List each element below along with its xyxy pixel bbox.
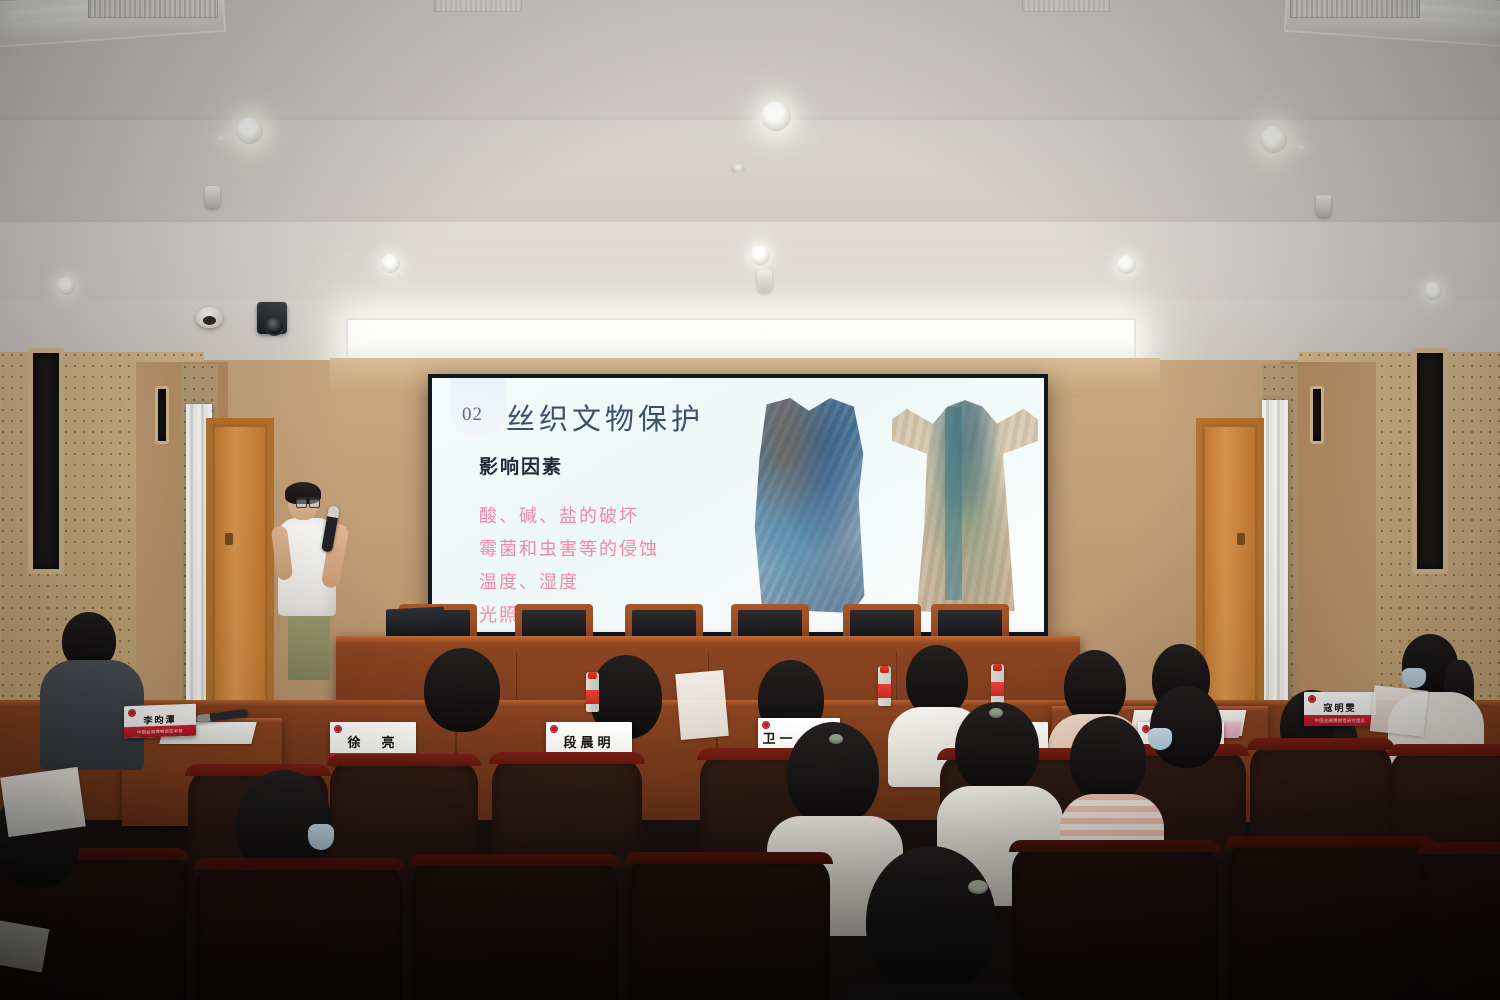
desk-seam [516, 652, 517, 700]
placard-org: 中国丝绸博物馆研究馆员 [1304, 715, 1376, 726]
bottle-cap [993, 664, 1002, 671]
university-logo-icon [334, 725, 342, 733]
desk-seam [896, 652, 897, 700]
desk-top-edge [336, 636, 1080, 643]
chair-cushion [738, 610, 802, 638]
blue-silk-robe-image [750, 398, 868, 613]
slide-number: 02 [462, 404, 483, 426]
university-logo-icon [762, 721, 770, 729]
placard-name: 徐 亮 [330, 722, 416, 753]
glasses-icon [296, 497, 320, 504]
handout-paper-left[interactable] [0, 767, 86, 837]
ceiling-downlight [381, 254, 400, 273]
seat-trim [1225, 836, 1437, 848]
handout-paper-left-2[interactable] [0, 919, 49, 972]
wall-inset-right-small [1310, 386, 1324, 444]
face-mask [1148, 728, 1172, 750]
hair-scrunchie [829, 734, 843, 744]
ceiling-downlight [1260, 126, 1287, 153]
door-knob-icon [225, 533, 233, 545]
ceiling-vent-center [434, 0, 522, 12]
seat-trim [327, 754, 481, 766]
ceiling-downlight [57, 277, 75, 295]
ceiling-speaker [757, 270, 772, 292]
seat-trim [193, 858, 405, 870]
bottle-label [586, 690, 599, 704]
university-logo-icon [1308, 695, 1316, 703]
placard-name: 段晨明 [546, 722, 632, 753]
bottle-cap [588, 672, 597, 679]
water-bottle[interactable] [991, 664, 1004, 704]
face-mask [1402, 668, 1426, 688]
auditorium-seat-foreground[interactable] [1420, 846, 1500, 1000]
ceiling-vent-left [88, 0, 218, 18]
slide-bullet: 霉菌和虫害等的侵蚀 [479, 533, 659, 566]
slide-subtitle: 影响因素 [479, 452, 563, 479]
attendee-head [1150, 686, 1222, 768]
chair-cushion [850, 610, 914, 638]
slide-bullet: 酸、碱、盐的破坏 [479, 500, 659, 533]
water-bottle[interactable] [878, 666, 891, 706]
university-logo-icon [550, 725, 558, 733]
hair-scrunchie [968, 880, 988, 894]
door-right [1202, 424, 1258, 736]
name-placard: 寇明雯 中国丝绸博物馆研究馆员 [1304, 692, 1376, 726]
seat-trim [409, 854, 621, 866]
ceiling-downlight [1296, 145, 1306, 150]
attendee-head [424, 648, 500, 732]
attendee-head [866, 846, 996, 996]
bottle-cap [880, 666, 889, 673]
hair-scrunchie [989, 708, 1003, 718]
attendee-head [1070, 716, 1146, 802]
bottle-label [878, 684, 891, 698]
door-left [212, 424, 268, 736]
handout-paper-right[interactable] [1370, 685, 1429, 736]
presentation-slide: 02 丝织文物保护 影响因素 酸、碱、盐的破坏 霉菌和虫害等的侵蚀 温度、湿度 … [432, 378, 1044, 632]
lecture-hall-scene: 02 丝织文物保护 影响因素 酸、碱、盐的破坏 霉菌和虫害等的侵蚀 温度、湿度 … [0, 0, 1500, 1000]
ceiling-downlight [1117, 255, 1136, 274]
ceiling-vent-right [1290, 0, 1420, 18]
ceiling-panel-light [346, 318, 1136, 362]
seat-trim [489, 752, 645, 764]
water-bottle[interactable] [586, 672, 599, 712]
projection-screen: 02 丝织文物保护 影响因素 酸、碱、盐的破坏 霉菌和虫害等的侵蚀 温度、湿度 … [428, 374, 1048, 636]
stage-rail [0, 700, 1500, 706]
handout-paper-center[interactable] [675, 670, 729, 740]
ceiling-vent-center-right [1022, 0, 1110, 12]
chair-cushion [522, 610, 586, 638]
seat-trim [1387, 744, 1500, 756]
chair-cushion [632, 610, 696, 638]
presenter-trousers [288, 612, 330, 680]
wall-inset-left [28, 348, 64, 574]
laptop-screen [386, 606, 444, 639]
slide-bullet: 温度、湿度 [479, 566, 659, 599]
attendee-head [1064, 650, 1126, 724]
auditorium-seat-foreground[interactable] [1012, 844, 1218, 1000]
smoke-detector [731, 164, 745, 173]
ceiling-downlight [236, 117, 263, 144]
ceiling-speaker [205, 186, 220, 208]
seat-trim [625, 852, 833, 864]
dome-camera-icon [196, 307, 223, 328]
slide-title: 丝织文物保护 [506, 396, 704, 438]
name-placard: 李昀潭 中国丝绸博物馆技术部 [124, 704, 196, 739]
door-knob-icon [1237, 533, 1245, 545]
ceiling-downlight [750, 245, 770, 265]
attendee-body [832, 984, 1028, 1000]
seat-trim [1247, 738, 1395, 750]
ceiling-downlight [761, 101, 791, 131]
wall-inset-right [1412, 348, 1448, 574]
face-mask [308, 824, 334, 850]
chair-cushion [938, 610, 1002, 638]
beige-silk-robe-image [892, 398, 1038, 613]
auditorium-seat-foreground[interactable] [628, 856, 830, 1000]
auditorium-seat-foreground[interactable] [1228, 840, 1434, 1000]
ceiling-speaker [1316, 195, 1331, 217]
ceiling-downlight [1424, 282, 1442, 300]
bottle-label [991, 682, 1004, 696]
seat-trim [1009, 840, 1221, 852]
auditorium-seat-foreground[interactable] [196, 862, 402, 1000]
wall-inset-left-small [155, 386, 169, 444]
ceiling-downlight [216, 136, 226, 141]
ptz-camera-icon [257, 302, 287, 334]
auditorium-seat-foreground[interactable] [412, 858, 618, 1000]
seat-trim [1417, 842, 1500, 854]
seat-trim [185, 764, 331, 776]
